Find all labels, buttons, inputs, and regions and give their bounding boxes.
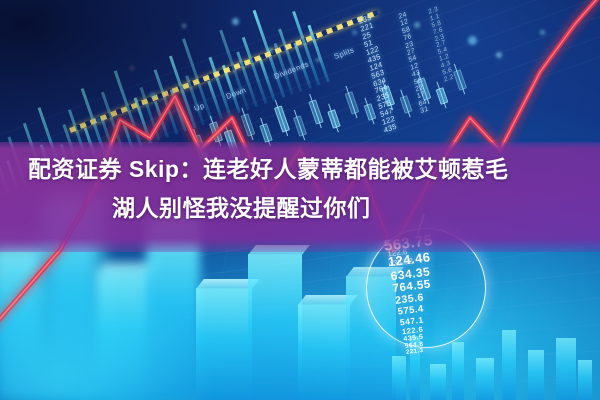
headline-line-1: 配资证券 Skip：连老好人蒙蒂都能被艾顿惹毛 [14, 150, 586, 189]
headline-block: 配资证券 Skip：连老好人蒙蒂都能被艾顿惹毛 湖人别怪我没提醒过你们 [0, 150, 600, 228]
headline-line-2: 湖人别怪我没提醒过你们 [14, 189, 586, 228]
stock-market-banner-image: 2352212551122435124563634764235575547122… [0, 0, 600, 400]
